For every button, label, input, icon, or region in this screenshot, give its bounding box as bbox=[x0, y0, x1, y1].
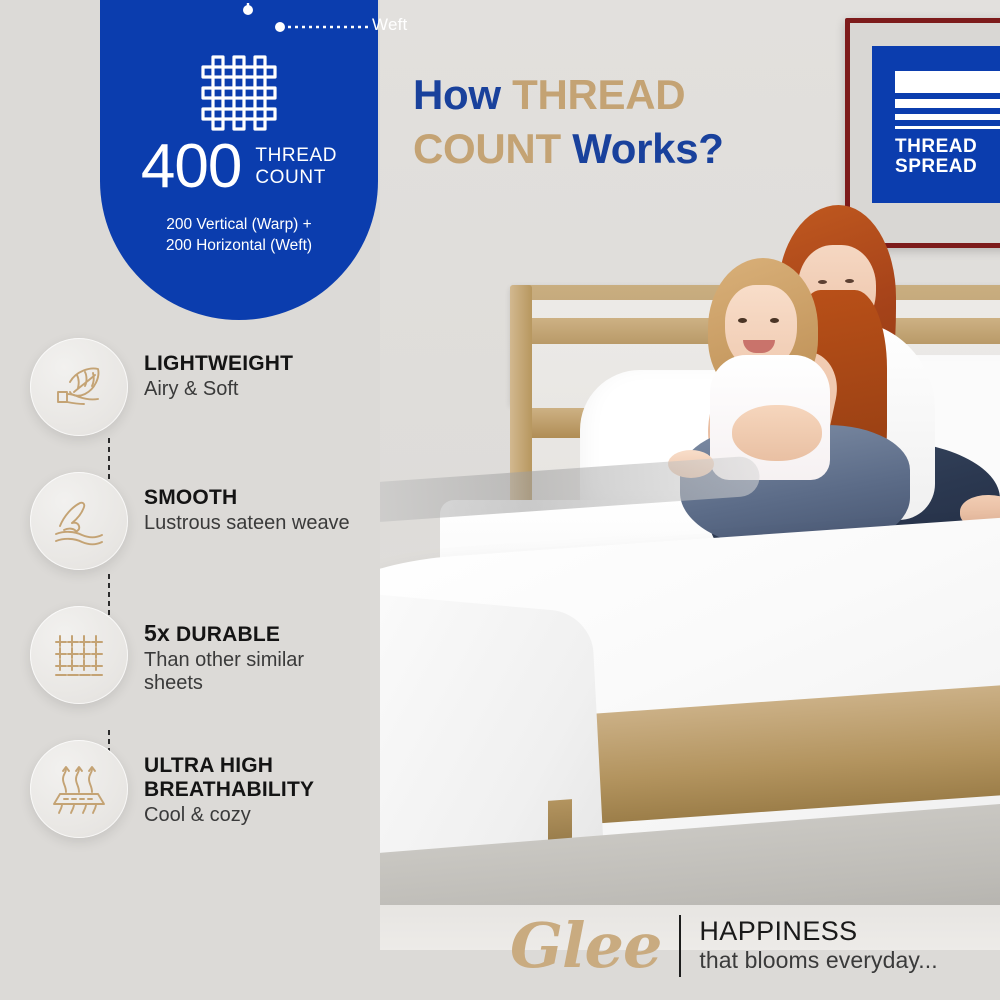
feature-text: 5x DURABLE Than other similar sheets bbox=[144, 606, 360, 696]
feature-title-prefix: 5x bbox=[144, 620, 170, 646]
thread-count-value-row: 400 THREAD COUNT bbox=[100, 138, 378, 195]
thread-count-number: 400 bbox=[141, 138, 241, 195]
hand-feather-icon bbox=[50, 362, 108, 412]
feature-list: LIGHTWEIGHT Airy & Soft SMOOTH bbox=[30, 338, 360, 838]
feature-item-breathability: ULTRA HIGH BREATHABILITY Cool & cozy bbox=[30, 740, 360, 838]
tagline-line-2: that blooms everyday... bbox=[699, 947, 937, 975]
feature-subtitle: Cool & cozy bbox=[144, 804, 360, 827]
footer-branding: Glee HAPPINESS that blooms everyday... bbox=[510, 915, 938, 977]
feature-title: SMOOTH bbox=[144, 486, 350, 510]
breakdown-warp-line: 200 Vertical (Warp) + bbox=[100, 215, 378, 236]
page-title: How THREAD COUNT Works? bbox=[413, 68, 833, 176]
logo-bars-icon bbox=[895, 71, 1000, 135]
headline-thread: THREAD bbox=[512, 71, 685, 118]
brand-divider bbox=[679, 915, 681, 977]
headline-works: Works? bbox=[561, 125, 724, 172]
feature-item-smooth: SMOOTH Lustrous sateen weave bbox=[30, 472, 360, 570]
feature-icon-circle bbox=[30, 338, 128, 436]
logo-brand-text: THREAD SPREAD bbox=[895, 137, 1000, 177]
feature-subtitle: Lustrous sateen weave bbox=[144, 512, 350, 535]
feature-subtitle: Than other similar sheets bbox=[144, 649, 360, 696]
feature-text: ULTRA HIGH BREATHABILITY Cool & cozy bbox=[144, 740, 360, 827]
feature-text: LIGHTWEIGHT Airy & Soft bbox=[144, 338, 293, 401]
feature-item-durable: 5x DURABLE Than other similar sheets bbox=[30, 606, 360, 704]
thread-count-breakdown: 200 Vertical (Warp) + 200 Horizontal (We… bbox=[100, 215, 378, 257]
woven-threads-icon bbox=[191, 45, 287, 141]
woven-grid-icon bbox=[52, 628, 106, 682]
weft-leader-line bbox=[274, 16, 374, 38]
tagline-line-1: HAPPINESS bbox=[699, 917, 937, 947]
hand-on-fabric-icon bbox=[50, 496, 108, 546]
thread-count-badge: Warp Weft 400 THREAD COUNT 200 Vertical … bbox=[100, 0, 378, 320]
airflow-breathability-icon bbox=[50, 762, 108, 816]
feature-icon-circle bbox=[30, 472, 128, 570]
feature-title: LIGHTWEIGHT bbox=[144, 352, 293, 376]
infographic-canvas: THREAD SPREAD bbox=[0, 0, 1000, 1000]
thread-count-word-count: COUNT bbox=[255, 167, 337, 188]
wall-art-frame: THREAD SPREAD bbox=[845, 18, 1000, 248]
thread-count-words: THREAD COUNT bbox=[255, 145, 337, 188]
feature-item-lightweight: LIGHTWEIGHT Airy & Soft bbox=[30, 338, 360, 436]
brand-tagline: HAPPINESS that blooms everyday... bbox=[699, 917, 937, 974]
logo-brand-line2: SPREAD bbox=[895, 157, 1000, 177]
daughter-arms bbox=[732, 405, 822, 461]
feature-title: ULTRA HIGH BREATHABILITY bbox=[144, 754, 360, 802]
thread-spread-logo: THREAD SPREAD bbox=[872, 46, 1000, 203]
breakdown-weft-line: 200 Horizontal (Weft) bbox=[100, 236, 378, 257]
feature-subtitle: Airy & Soft bbox=[144, 378, 293, 401]
feature-icon-circle bbox=[30, 606, 128, 704]
feature-title: 5x DURABLE bbox=[144, 620, 360, 647]
logo-brand-line1: THREAD bbox=[895, 137, 1000, 157]
feature-icon-circle bbox=[30, 740, 128, 838]
headline-count: COUNT bbox=[413, 125, 561, 172]
frame-mat: THREAD SPREAD bbox=[850, 23, 1000, 243]
thread-count-word-thread: THREAD bbox=[255, 145, 337, 166]
feature-text: SMOOTH Lustrous sateen weave bbox=[144, 472, 350, 535]
brand-wordmark: Glee bbox=[510, 917, 661, 976]
feature-title-main: DURABLE bbox=[170, 623, 280, 646]
weft-label: Weft bbox=[372, 15, 407, 35]
headline-how: How bbox=[413, 71, 512, 118]
